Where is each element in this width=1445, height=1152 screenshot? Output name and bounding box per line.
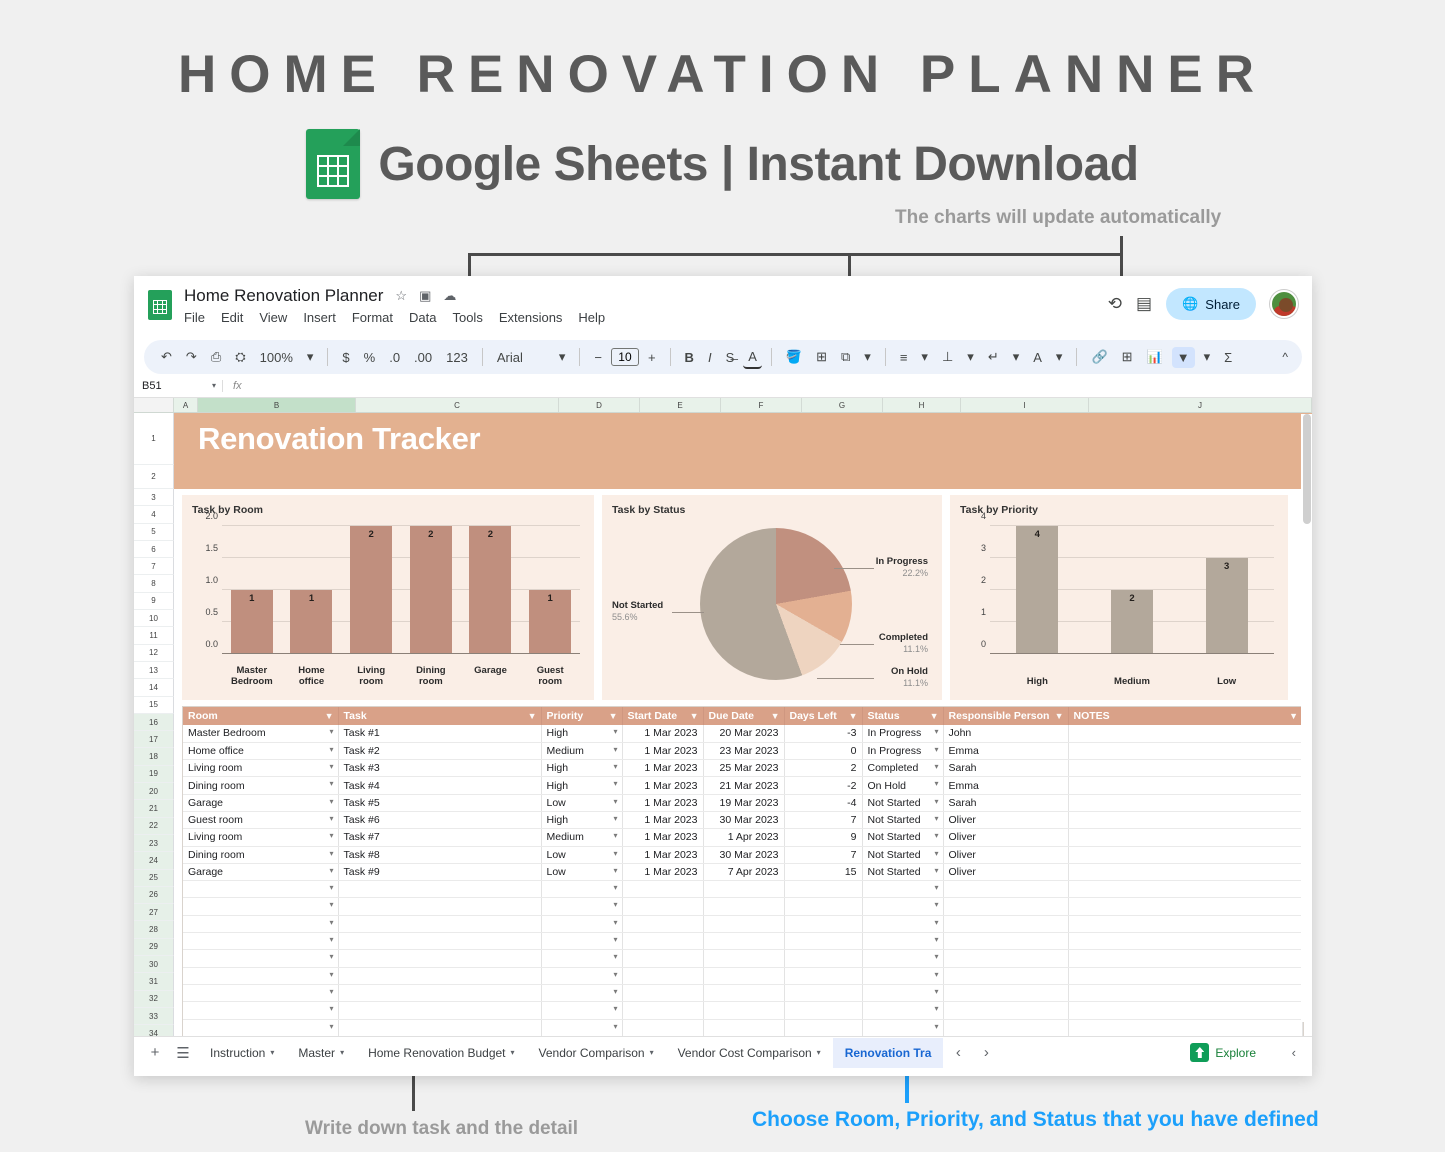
menu-tools[interactable]: Tools [452,310,482,325]
row-header-17[interactable]: 17 [134,731,174,748]
menu-file[interactable]: File [184,310,205,325]
row-header-9[interactable]: 9 [134,593,174,610]
sheet-tab-vendor-cost-comparison[interactable]: Vendor Cost Comparison▾ [666,1038,833,1068]
row-header-1[interactable]: 1 [134,413,174,465]
cell-empty[interactable] [541,967,622,984]
cell-responsible-person[interactable]: Sarah [943,794,1068,811]
currency-format-icon[interactable]: $ [337,347,354,368]
cell-empty[interactable] [1068,915,1303,932]
vertical-align-icon[interactable]: ⊥ [937,346,958,368]
row-header-13[interactable]: 13 [134,662,174,679]
merge-cells-icon[interactable]: ⧉ [836,346,855,368]
cell-days-left[interactable]: 7 [784,846,862,863]
cell-empty[interactable] [862,967,943,984]
cell-empty[interactable] [703,915,784,932]
cell-empty[interactable] [338,950,541,967]
sheet-tab-home-renovation-budget[interactable]: Home Renovation Budget▾ [356,1038,526,1068]
cell-empty[interactable] [541,915,622,932]
row-header-18[interactable]: 18 [134,748,174,765]
table-row-empty[interactable] [183,881,1303,898]
percent-format-icon[interactable]: % [359,347,381,368]
chevron-down-icon[interactable]: ▾ [302,346,319,368]
cell-due-date[interactable]: 1 Apr 2023 [703,829,784,846]
cell-empty[interactable] [338,1002,541,1019]
cell-due-date[interactable]: 19 Mar 2023 [703,794,784,811]
cell-empty[interactable] [338,933,541,950]
cell-empty[interactable] [862,1002,943,1019]
decrease-decimal-icon[interactable]: .0 [384,347,405,368]
filter-icon[interactable]: ▼ [930,711,939,721]
row-header-22[interactable]: 22 [134,818,174,835]
functions-icon[interactable]: Σ [1219,347,1237,368]
cell-responsible-person[interactable]: Emma [943,777,1068,794]
cell-status[interactable]: Not Started [862,811,943,828]
cell-empty[interactable] [784,1019,862,1036]
chart-task-by-priority[interactable]: Task by Priority 01234423 HighMediumLow [950,495,1288,700]
column-header-days-left[interactable]: Days Left▼ [784,707,862,725]
table-row[interactable]: Dining roomTask #4High1 Mar 202321 Mar 2… [183,777,1303,794]
column-header-notes[interactable]: NOTES▼ [1068,707,1303,725]
cell-empty[interactable] [338,898,541,915]
cell-status[interactable]: Completed [862,760,943,777]
paint-format-icon[interactable]: ⛭ [230,346,250,368]
cell-empty[interactable] [541,1002,622,1019]
cell-start-date[interactable]: 1 Mar 2023 [622,829,703,846]
column-header-c[interactable]: C [356,398,559,412]
next-sheet-button[interactable]: › [973,1040,999,1066]
cell-empty[interactable] [183,933,338,950]
cell-due-date[interactable]: 30 Mar 2023 [703,811,784,828]
filter-icon[interactable]: ▼ [771,711,780,721]
sheet-tab-master[interactable]: Master▾ [286,1038,356,1068]
table-row-empty[interactable] [183,933,1303,950]
cell-days-left[interactable]: 2 [784,760,862,777]
table-row-empty[interactable] [183,984,1303,1001]
cell-start-date[interactable]: 1 Mar 2023 [622,742,703,759]
cell-responsible-person[interactable]: Oliver [943,829,1068,846]
cell-empty[interactable] [1068,881,1303,898]
cell-empty[interactable] [703,933,784,950]
cell-empty[interactable] [338,1019,541,1036]
print-icon[interactable]: ⎙ [206,346,226,368]
avatar[interactable] [1270,290,1298,318]
chart-task-by-status[interactable]: Task by Status In Progress22.2% Complete… [602,495,942,700]
cell-task[interactable]: Task #2 [338,742,541,759]
cell-empty[interactable] [183,898,338,915]
cell-task[interactable]: Task #5 [338,794,541,811]
cell-start-date[interactable]: 1 Mar 2023 [622,863,703,880]
increase-decimal-icon[interactable]: .00 [409,347,437,368]
bold-button[interactable]: B [680,347,699,368]
cell-empty[interactable] [703,898,784,915]
decrease-font-size-button[interactable]: − [589,347,607,368]
cell-room[interactable]: Home office [183,742,338,759]
table-row[interactable]: Living roomTask #7Medium1 Mar 20231 Apr … [183,829,1303,846]
menu-edit[interactable]: Edit [221,310,243,325]
row-header-16[interactable]: 16 [134,714,174,731]
cell-empty[interactable] [943,915,1068,932]
table-row[interactable]: Home officeTask #2Medium1 Mar 202323 Mar… [183,742,1303,759]
prev-sheet-button[interactable]: ‹ [945,1040,971,1066]
cell-empty[interactable] [943,967,1068,984]
table-row[interactable]: GarageTask #9Low1 Mar 20237 Apr 202315No… [183,863,1303,880]
insert-link-icon[interactable]: 🔗 [1086,346,1112,368]
cell-due-date[interactable]: 20 Mar 2023 [703,725,784,742]
cell-notes[interactable] [1068,725,1303,742]
cell-room[interactable]: Living room [183,829,338,846]
chevron-down-icon[interactable]: ▾ [554,346,571,368]
cell-start-date[interactable]: 1 Mar 2023 [622,811,703,828]
cell-due-date[interactable]: 25 Mar 2023 [703,760,784,777]
cell-empty[interactable] [622,1002,703,1019]
cell-empty[interactable] [541,1019,622,1036]
cell-empty[interactable] [338,967,541,984]
column-header-b[interactable]: B [198,398,356,412]
cell-start-date[interactable]: 1 Mar 2023 [622,725,703,742]
column-header-d[interactable]: D [559,398,640,412]
chevron-down-icon[interactable]: ▾ [1008,346,1025,368]
column-header-status[interactable]: Status▼ [862,707,943,725]
cell-room[interactable]: Garage [183,794,338,811]
row-header-26[interactable]: 26 [134,887,174,904]
cell-empty[interactable] [862,950,943,967]
cell-empty[interactable] [1068,950,1303,967]
cell-days-left[interactable]: 9 [784,829,862,846]
cell-days-left[interactable]: 15 [784,863,862,880]
font-size-input[interactable]: 10 [611,348,639,366]
cell-empty[interactable] [703,881,784,898]
zoom-select[interactable]: 100% [255,347,298,368]
cell-priority[interactable]: High [541,811,622,828]
cell-empty[interactable] [862,898,943,915]
cell-empty[interactable] [622,950,703,967]
cell-empty[interactable] [622,881,703,898]
cell-notes[interactable] [1068,760,1303,777]
table-row[interactable]: Living roomTask #3High1 Mar 202325 Mar 2… [183,760,1303,777]
cell-empty[interactable] [183,1002,338,1019]
increase-font-size-button[interactable]: + [643,347,661,368]
column-header-room[interactable]: Room▼ [183,707,338,725]
sheet-tab-instruction[interactable]: Instruction▾ [198,1038,286,1068]
filter-icon[interactable]: ▼ [528,711,537,721]
menu-extensions[interactable]: Extensions [499,310,563,325]
row-header-34[interactable]: 34 [134,1025,174,1036]
cell-days-left[interactable]: -2 [784,777,862,794]
cell-due-date[interactable]: 30 Mar 2023 [703,846,784,863]
row-header-29[interactable]: 29 [134,939,174,956]
chevron-down-icon[interactable]: ▾ [859,346,876,368]
number-format-icon[interactable]: 123 [441,347,473,368]
cell-notes[interactable] [1068,811,1303,828]
row-header-30[interactable]: 30 [134,956,174,973]
move-folder-icon[interactable]: ▣ [419,288,431,304]
cell-empty[interactable] [622,933,703,950]
cell-empty[interactable] [622,967,703,984]
filter-icon[interactable]: ▼ [1055,711,1064,721]
cell-priority[interactable]: High [541,777,622,794]
cell-priority[interactable]: Low [541,863,622,880]
vertical-scrollbar[interactable] [1301,414,1312,1022]
cell-empty[interactable] [943,881,1068,898]
row-header-28[interactable]: 28 [134,921,174,938]
cell-empty[interactable] [622,1019,703,1036]
cell-empty[interactable] [703,1019,784,1036]
cell-empty[interactable] [703,984,784,1001]
filter-icon[interactable]: ▼ [609,711,618,721]
cell-days-left[interactable]: -3 [784,725,862,742]
row-header-14[interactable]: 14 [134,679,174,696]
filter-icon[interactable]: ▼ [1289,711,1298,721]
row-header-8[interactable]: 8 [134,575,174,592]
all-sheets-button[interactable]: ☰ [170,1040,196,1066]
cell-room[interactable]: Dining room [183,846,338,863]
cell-empty[interactable] [943,1019,1068,1036]
cell-due-date[interactable]: 23 Mar 2023 [703,742,784,759]
row-header-7[interactable]: 7 [134,558,174,575]
column-header-responsible-person[interactable]: Responsible Person▼ [943,707,1068,725]
column-header-g[interactable]: G [802,398,883,412]
menu-help[interactable]: Help [578,310,605,325]
cell-empty[interactable] [541,898,622,915]
cell-start-date[interactable]: 1 Mar 2023 [622,846,703,863]
filter-icon[interactable]: ▼ [849,711,858,721]
cell-empty[interactable] [541,881,622,898]
scrollbar-thumb[interactable] [1303,414,1311,524]
column-header-h[interactable]: H [883,398,961,412]
sheet-tab-vendor-comparison[interactable]: Vendor Comparison▾ [527,1038,666,1068]
strikethrough-button[interactable]: S̶ [721,347,740,368]
table-row-empty[interactable] [183,915,1303,932]
row-header-11[interactable]: 11 [134,627,174,644]
cell-empty[interactable] [1068,933,1303,950]
chart-task-by-room[interactable]: Task by Room 0.00.51.01.52.0112221 Maste… [182,495,594,700]
row-header-21[interactable]: 21 [134,800,174,817]
cell-priority[interactable]: Medium [541,742,622,759]
text-wrap-icon[interactable]: ↵ [983,346,1004,368]
select-all-corner[interactable] [134,398,174,412]
chevron-down-icon[interactable]: ▾ [962,346,979,368]
row-header-12[interactable]: 12 [134,645,174,662]
cell-days-left[interactable]: 7 [784,811,862,828]
cell-empty[interactable] [183,881,338,898]
cell-days-left[interactable]: -4 [784,794,862,811]
text-color-icon[interactable]: A [743,346,762,369]
chevron-down-icon[interactable]: ▾ [1051,346,1068,368]
document-title[interactable]: Home Renovation Planner [184,286,383,306]
insert-comment-icon[interactable]: ⊞ [1117,346,1138,368]
table-row[interactable]: GarageTask #5Low1 Mar 202319 Mar 2023-4N… [183,794,1303,811]
cell-status[interactable]: In Progress [862,725,943,742]
column-header-e[interactable]: E [640,398,721,412]
fill-color-icon[interactable]: 🪣 [781,346,807,368]
row-header-2[interactable]: 2 [134,465,174,489]
cell-responsible-person[interactable]: Oliver [943,811,1068,828]
cell-priority[interactable]: Medium [541,829,622,846]
cell-task[interactable]: Task #1 [338,725,541,742]
cell-empty[interactable] [541,950,622,967]
cell-empty[interactable] [1068,898,1303,915]
row-header-23[interactable]: 23 [134,835,174,852]
row-header-31[interactable]: 31 [134,973,174,990]
cell-empty[interactable] [862,984,943,1001]
italic-button[interactable]: I [703,347,717,368]
chevron-down-icon[interactable]: ▾ [916,346,933,368]
row-header-27[interactable]: 27 [134,904,174,921]
cell-days-left[interactable]: 0 [784,742,862,759]
filter-icon[interactable]: ▼ [1172,347,1195,368]
cell-start-date[interactable]: 1 Mar 2023 [622,777,703,794]
cell-empty[interactable] [183,950,338,967]
cell-empty[interactable] [622,984,703,1001]
cell-empty[interactable] [862,933,943,950]
cell-empty[interactable] [862,1019,943,1036]
chevron-down-icon[interactable]: ▾ [511,1048,515,1057]
cell-status[interactable]: Not Started [862,863,943,880]
cell-due-date[interactable]: 7 Apr 2023 [703,863,784,880]
row-header-20[interactable]: 20 [134,783,174,800]
cell-responsible-person[interactable]: Emma [943,742,1068,759]
horizontal-align-icon[interactable]: ≡ [895,347,913,368]
chevron-down-icon[interactable]: ▾ [817,1048,821,1057]
cell-empty[interactable] [703,967,784,984]
cell-empty[interactable] [784,933,862,950]
cell-responsible-person[interactable]: Sarah [943,760,1068,777]
cell-empty[interactable] [338,984,541,1001]
sheet-tab-renovation-tra[interactable]: Renovation Tra [833,1038,944,1068]
explore-button[interactable]: Explore [1190,1043,1256,1062]
cell-priority[interactable]: High [541,760,622,777]
cell-due-date[interactable]: 21 Mar 2023 [703,777,784,794]
column-header-j[interactable]: J [1089,398,1312,412]
cell-status[interactable]: In Progress [862,742,943,759]
column-header-task[interactable]: Task▼ [338,707,541,725]
cell-responsible-person[interactable]: Oliver [943,863,1068,880]
chevron-down-icon[interactable]: ▾ [650,1048,654,1057]
collapse-panel-button[interactable]: ‹ [1292,1045,1296,1060]
cell-empty[interactable] [338,881,541,898]
cell-empty[interactable] [784,1002,862,1019]
cell-empty[interactable] [1068,1019,1303,1036]
chevron-down-icon[interactable]: ▾ [270,1048,274,1057]
cell-empty[interactable] [183,915,338,932]
chevron-down-icon[interactable]: ▾ [212,381,216,390]
cell-priority[interactable]: Low [541,794,622,811]
menu-view[interactable]: View [259,310,287,325]
table-row-empty[interactable] [183,967,1303,984]
cell-empty[interactable] [338,915,541,932]
borders-icon[interactable]: ⊞ [811,346,832,368]
column-header-i[interactable]: I [961,398,1089,412]
cell-room[interactable]: Dining room [183,777,338,794]
row-header-25[interactable]: 25 [134,870,174,887]
cell-empty[interactable] [943,950,1068,967]
cell-empty[interactable] [943,984,1068,1001]
cell-responsible-person[interactable]: John [943,725,1068,742]
table-row[interactable]: Master BedroomTask #1High1 Mar 202320 Ma… [183,725,1303,742]
cell-empty[interactable] [784,898,862,915]
cell-empty[interactable] [1068,984,1303,1001]
filter-icon[interactable]: ▼ [690,711,699,721]
star-icon[interactable]: ☆ [395,288,407,304]
version-history-icon[interactable]: ⟲ [1108,294,1122,314]
table-row[interactable]: Guest roomTask #6High1 Mar 202330 Mar 20… [183,811,1303,828]
cell-room[interactable]: Living room [183,760,338,777]
cell-empty[interactable] [183,967,338,984]
cell-task[interactable]: Task #3 [338,760,541,777]
cell-empty[interactable] [703,1002,784,1019]
cell-empty[interactable] [862,881,943,898]
cell-empty[interactable] [1068,1002,1303,1019]
cell-notes[interactable] [1068,863,1303,880]
cell-room[interactable]: Garage [183,863,338,880]
share-button[interactable]: 🌐 Share [1166,288,1256,320]
row-header-6[interactable]: 6 [134,541,174,558]
table-row-empty[interactable] [183,950,1303,967]
menu-insert[interactable]: Insert [303,310,336,325]
cell-start-date[interactable]: 1 Mar 2023 [622,794,703,811]
column-header-priority[interactable]: Priority▼ [541,707,622,725]
row-header-4[interactable]: 4 [134,506,174,523]
cell-empty[interactable] [622,898,703,915]
cell-empty[interactable] [183,1019,338,1036]
cell-reference-input[interactable]: B51 [142,380,206,392]
column-header-f[interactable]: F [721,398,802,412]
cell-notes[interactable] [1068,829,1303,846]
cell-status[interactable]: Not Started [862,794,943,811]
collapse-toolbar-icon[interactable]: ^ [1282,350,1288,364]
chevron-down-icon[interactable]: ▾ [1199,346,1216,368]
cell-priority[interactable]: High [541,725,622,742]
table-row[interactable]: Dining roomTask #8Low1 Mar 202330 Mar 20… [183,846,1303,863]
menu-data[interactable]: Data [409,310,436,325]
cell-notes[interactable] [1068,846,1303,863]
cell-empty[interactable] [1068,967,1303,984]
cell-task[interactable]: Task #9 [338,863,541,880]
table-row-empty[interactable] [183,898,1303,915]
cell-empty[interactable] [784,984,862,1001]
row-header-5[interactable]: 5 [134,524,174,541]
cell-notes[interactable] [1068,742,1303,759]
cell-empty[interactable] [784,950,862,967]
cell-empty[interactable] [784,881,862,898]
cell-priority[interactable]: Low [541,846,622,863]
cell-empty[interactable] [943,1002,1068,1019]
row-header-32[interactable]: 32 [134,991,174,1008]
comment-icon[interactable]: ▤ [1136,294,1152,314]
row-header-15[interactable]: 15 [134,697,174,714]
menu-format[interactable]: Format [352,310,393,325]
text-rotation-icon[interactable]: A [1028,347,1047,368]
cell-status[interactable]: Not Started [862,829,943,846]
cell-task[interactable]: Task #7 [338,829,541,846]
add-sheet-button[interactable]: + [142,1040,168,1066]
cell-empty[interactable] [703,950,784,967]
cell-notes[interactable] [1068,777,1303,794]
cell-responsible-person[interactable]: Oliver [943,846,1068,863]
undo-icon[interactable]: ↶ [156,346,177,368]
table-row-empty[interactable] [183,1019,1303,1036]
filter-icon[interactable]: ▼ [325,711,334,721]
cell-task[interactable]: Task #4 [338,777,541,794]
cell-status[interactable]: On Hold [862,777,943,794]
chevron-down-icon[interactable]: ▾ [340,1048,344,1057]
font-family-select[interactable]: Arial [492,347,550,368]
redo-icon[interactable]: ↷ [181,346,202,368]
cell-empty[interactable] [784,967,862,984]
cell-notes[interactable] [1068,794,1303,811]
table-row-empty[interactable] [183,1002,1303,1019]
cell-empty[interactable] [784,915,862,932]
